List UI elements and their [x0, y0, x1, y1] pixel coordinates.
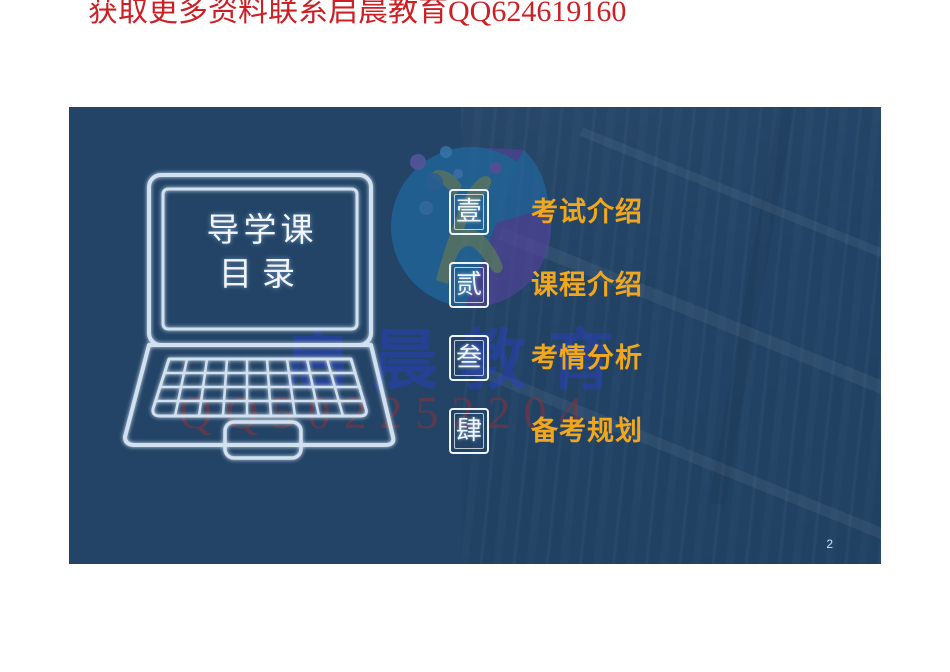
seal-number-icon-3: 叁 — [449, 335, 489, 381]
seal-number-icon-1: 壹 — [449, 189, 489, 235]
agenda-label-2: 课程介绍 — [531, 268, 643, 302]
header-contact-note: 获取更多资料联系启晨教育QQ624619160 — [88, 0, 888, 32]
agenda-label-4: 备考规划 — [531, 414, 643, 448]
agenda-item-3[interactable]: 叁 考情分析 — [449, 321, 779, 394]
agenda-list: 壹 考试介绍 贰 课程介绍 叁 考情分析 肆 备考规划 — [449, 175, 779, 467]
laptop-screen-line-2: 目录 — [137, 253, 387, 297]
laptop-illustration: 导学课 目录 — [117, 169, 407, 454]
laptop-screen-title: 导学课 目录 — [137, 209, 387, 297]
seal-number-icon-4: 肆 — [449, 408, 489, 454]
agenda-label-1: 考试介绍 — [531, 195, 643, 229]
presentation-slide: 启晨教育 QQ502252204 — [69, 107, 881, 564]
agenda-item-1[interactable]: 壹 考试介绍 — [449, 175, 779, 248]
agenda-label-3: 考情分析 — [531, 341, 643, 375]
laptop-screen-line-1: 导学课 — [137, 209, 387, 253]
seal-number-icon-2: 贰 — [449, 262, 489, 308]
agenda-item-2[interactable]: 贰 课程介绍 — [449, 248, 779, 321]
agenda-item-4[interactable]: 肆 备考规划 — [449, 394, 779, 467]
slide-page-number: 2 — [826, 536, 833, 552]
